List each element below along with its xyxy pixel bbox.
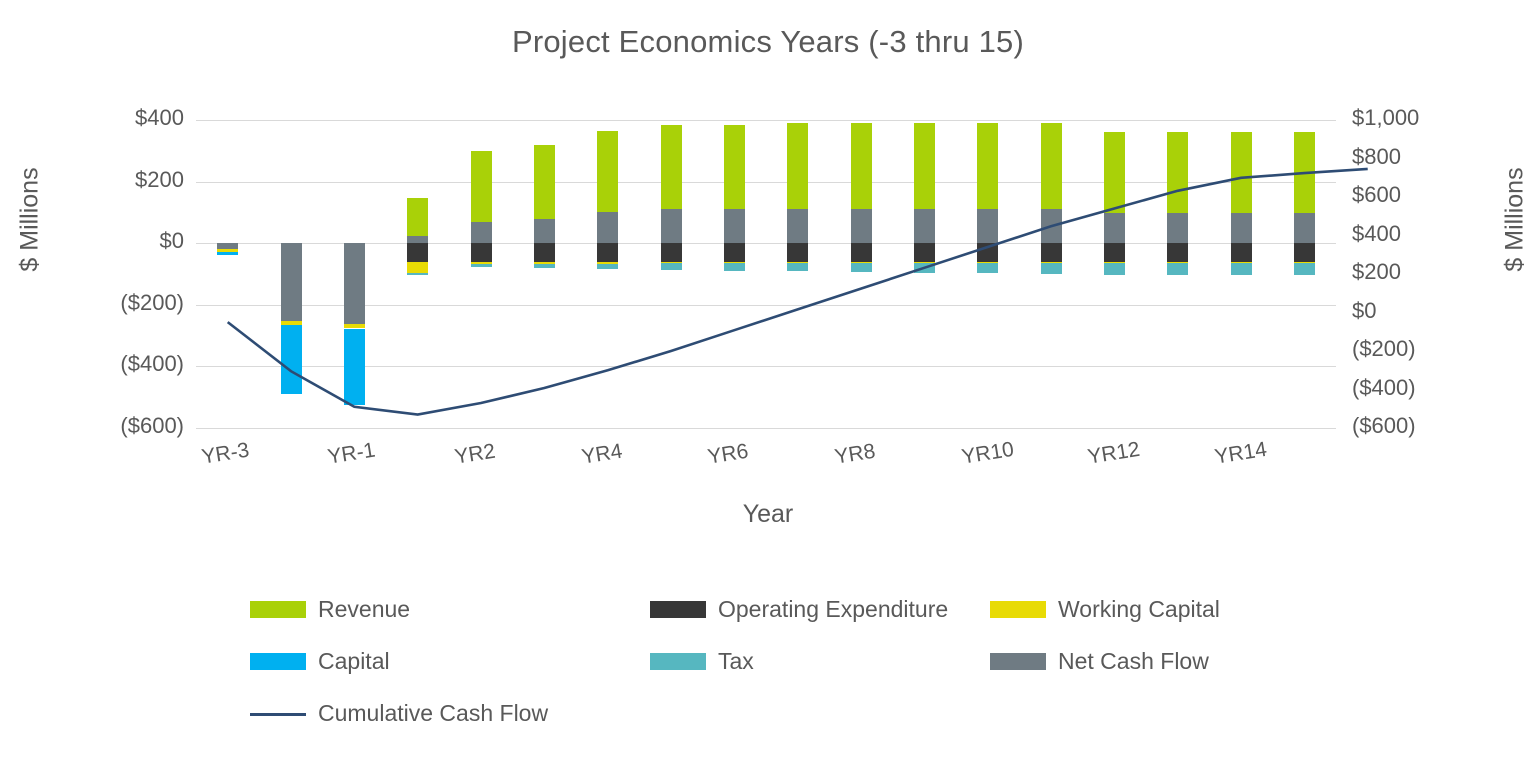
x-tick-label: YR4 [580, 440, 624, 470]
legend-label: Capital [318, 648, 390, 675]
legend-color-swatch [250, 601, 306, 618]
legend-label: Operating Expenditure [718, 596, 948, 623]
y-tick-right: $0 [1352, 298, 1492, 324]
legend-color-swatch [650, 653, 706, 670]
y-axis-title-right: $ Millions [1501, 130, 1530, 310]
legend-label: Tax [718, 648, 754, 675]
legend-label: Cumulative Cash Flow [318, 700, 548, 727]
y-tick-right: $800 [1352, 144, 1492, 170]
y-tick-left: ($200) [64, 290, 184, 316]
x-axis-title: Year [0, 500, 1536, 529]
legend-label: Working Capital [1058, 596, 1220, 623]
y-tick-left: $400 [64, 105, 184, 131]
gridline [196, 428, 1336, 429]
x-tick-label: YR-3 [200, 439, 251, 470]
y-tick-left: ($600) [64, 413, 184, 439]
x-tick-label: YR-1 [326, 439, 377, 470]
y-tick-right: $400 [1352, 221, 1492, 247]
x-tick-label: YR6 [706, 440, 750, 470]
chart-legend: RevenueOperating ExpenditureWorking Capi… [250, 588, 1290, 738]
legend-label: Revenue [318, 596, 410, 623]
legend-color-swatch [650, 601, 706, 618]
y-tick-right: $1,000 [1352, 105, 1492, 131]
y-tick-right: ($600) [1352, 413, 1492, 439]
y-axis-title-left: $ Millions [16, 130, 45, 310]
legend-item-net-cash-flow[interactable]: Net Cash Flow [990, 640, 1209, 682]
legend-color-swatch [250, 653, 306, 670]
legend-label: Net Cash Flow [1058, 648, 1209, 675]
x-tick-label: YR2 [453, 440, 497, 470]
plot-area [196, 120, 1336, 428]
legend-color-swatch [990, 601, 1046, 618]
legend-item-operating-expenditure[interactable]: Operating Expenditure [650, 588, 948, 630]
legend-item-cumulative-cash-flow[interactable]: Cumulative Cash Flow [250, 692, 548, 734]
chart-title: Project Economics Years (-3 thru 15) [0, 24, 1536, 60]
legend-item-revenue[interactable]: Revenue [250, 588, 410, 630]
x-tick-label: YR8 [833, 440, 877, 470]
chart-container: Project Economics Years (-3 thru 15) $ M… [0, 0, 1536, 760]
x-tick-label: YR10 [960, 438, 1016, 470]
x-tick-label: YR14 [1213, 438, 1269, 470]
y-tick-right: ($400) [1352, 375, 1492, 401]
y-tick-right: $200 [1352, 259, 1492, 285]
legend-item-capital[interactable]: Capital [250, 640, 390, 682]
y-tick-right: $600 [1352, 182, 1492, 208]
y-tick-right: ($200) [1352, 336, 1492, 362]
legend-line-swatch [250, 705, 306, 722]
legend-item-tax[interactable]: Tax [650, 640, 754, 682]
legend-item-working-capital[interactable]: Working Capital [990, 588, 1220, 630]
x-tick-label: YR12 [1086, 438, 1142, 470]
y-tick-left: ($400) [64, 351, 184, 377]
legend-color-swatch [990, 653, 1046, 670]
cumulative-cash-flow-line [196, 120, 1336, 428]
y-tick-left: $200 [64, 167, 184, 193]
y-tick-left: $0 [64, 228, 184, 254]
